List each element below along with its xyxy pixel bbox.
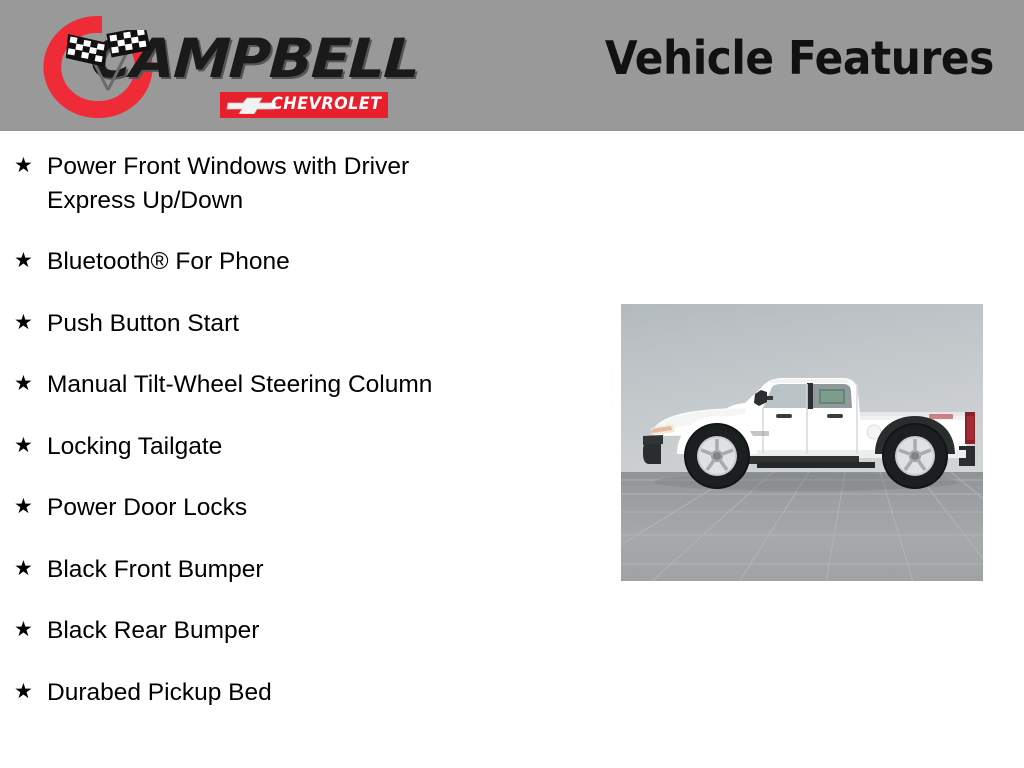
vehicle-photo	[621, 304, 983, 581]
feature-label: Bluetooth® For Phone	[47, 245, 497, 279]
star-bullet-icon: ★	[14, 150, 47, 182]
star-bullet-icon: ★	[14, 245, 47, 277]
star-bullet-icon: ★	[14, 307, 47, 339]
chevrolet-banner: CHEVROLET	[220, 92, 388, 118]
list-item: ★ Durabed Pickup Bed	[0, 676, 600, 710]
feature-label: Power Front Windows with Driver Express …	[47, 150, 497, 217]
feature-label: Black Rear Bumper	[47, 614, 497, 648]
list-item: ★ Locking Tailgate	[0, 430, 600, 464]
list-item: ★ Power Front Windows with Driver Expres…	[0, 150, 600, 217]
feature-label: Manual Tilt-Wheel Steering Column	[47, 368, 497, 402]
silverado-truck-illustration	[621, 304, 983, 581]
vehicle-features-list: ★ Power Front Windows with Driver Expres…	[0, 131, 600, 709]
list-item: ★ Black Rear Bumper	[0, 614, 600, 648]
page-header: CAMPBELL	[0, 0, 1024, 131]
checkered-flag-icon	[62, 30, 158, 94]
chevrolet-text: CHEVROLET	[271, 95, 382, 114]
star-bullet-icon: ★	[14, 430, 47, 462]
list-item: ★ Black Front Bumper	[0, 553, 600, 587]
list-item: ★ Manual Tilt-Wheel Steering Column	[0, 368, 600, 402]
star-bullet-icon: ★	[14, 614, 47, 646]
feature-label: Black Front Bumper	[47, 553, 497, 587]
star-bullet-icon: ★	[14, 491, 47, 523]
star-bullet-icon: ★	[14, 553, 47, 585]
feature-label: Locking Tailgate	[47, 430, 497, 464]
feature-label: Push Button Start	[47, 307, 497, 341]
star-bullet-icon: ★	[14, 368, 47, 400]
list-item: ★ Power Door Locks	[0, 491, 600, 525]
list-item: ★ Bluetooth® For Phone	[0, 245, 600, 279]
feature-label: Power Door Locks	[47, 491, 497, 525]
list-item: ★ Push Button Start	[0, 307, 600, 341]
star-bullet-icon: ★	[14, 676, 47, 708]
page-title: Vehicle Features	[605, 32, 994, 84]
feature-label: Durabed Pickup Bed	[47, 676, 497, 710]
dealer-logo[interactable]: CAMPBELL	[40, 14, 390, 122]
